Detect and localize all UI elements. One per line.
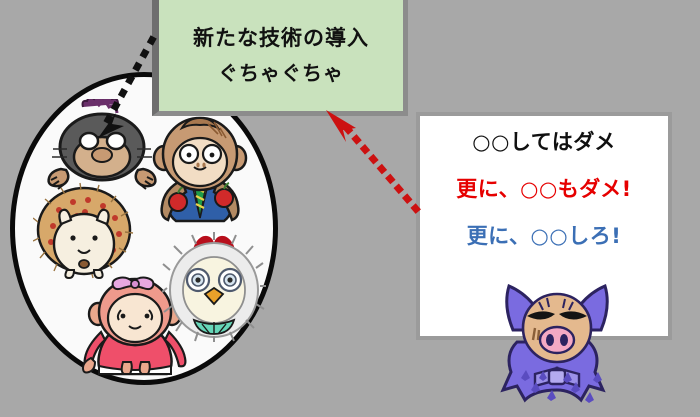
rule-line-1: ○○してはダメ: [420, 132, 668, 153]
monkey-suit-character: [146, 114, 254, 224]
team-oval: [10, 72, 278, 385]
owl-character: [162, 232, 266, 342]
new-technology-subtitle: ぐちゃぐちゃ: [218, 63, 344, 83]
new-technology-panel: 新たな技術の導入 ぐちゃぐちゃ: [152, 0, 408, 116]
rule-line-3: 更に、○○しろ!: [420, 226, 668, 247]
rule-line-2: 更に、○○もダメ!: [420, 179, 668, 200]
hedgehog-character: [33, 182, 135, 280]
mole-character: [43, 99, 161, 191]
red-dotted-arrow: [326, 110, 416, 209]
screenshot-stage: 新たな技術の導入 ぐちゃぐちゃ ○○してはダメ 更に、○○もダメ! 更に、○○し…: [0, 0, 700, 417]
pig-character: [487, 272, 627, 412]
new-technology-title: 新たな技術の導入: [193, 28, 369, 49]
